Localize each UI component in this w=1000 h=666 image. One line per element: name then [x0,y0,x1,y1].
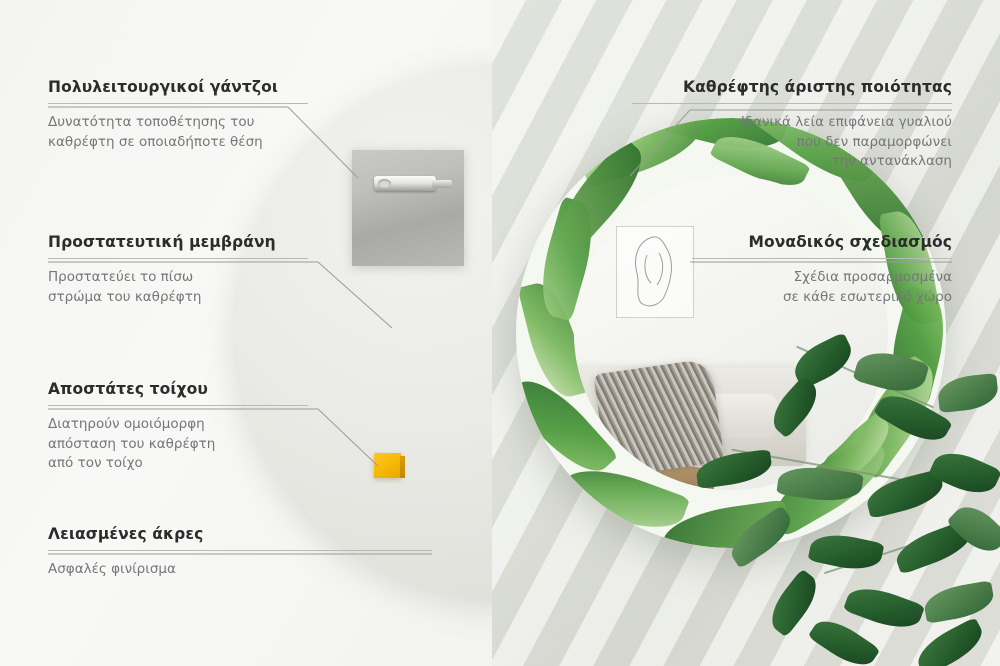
callout-desc: Προστατεύει το πίσωστρώμα του καθρέφτη [48,268,308,307]
callout-desc: Σχέδια προσαρμοσμένασε κάθε εσωτερικό χώ… [692,268,952,307]
line-art-face-icon [623,233,685,309]
callout-rule [692,258,952,259]
callout-desc: Διατηρούν ομοιόμορφηαπόσταση του καθρέφτ… [48,415,308,474]
callout-title: Καθρέφτης άριστης ποιότητας [632,78,952,96]
metal-hanging-hook [374,176,436,191]
callout-title: Μοναδικός σχεδιασμός [692,233,952,251]
callout-spacers: Αποστάτες τοίχου Διατηρούν ομοιόμορφηαπό… [48,380,308,474]
callout-rule [48,103,308,104]
callout-title: Προστατευτική μεμβράνη [48,233,308,251]
callout-edges: Λειασμένες άκρες Ασφαλές φινίρισμα [48,525,432,580]
reflected-line-art-frame [616,226,694,318]
tropical-leaf-round-mirror [516,118,946,548]
callout-rule [48,550,432,551]
callout-rule [48,405,308,406]
callout-hooks: Πολυλειτουργικοί γάντζοι Δυνατότητα τοπο… [48,78,308,152]
hook-hole [378,179,391,188]
callout-membrane: Προστατευτική μεμβράνη Προστατεύει το πί… [48,233,308,307]
callout-design: Μοναδικός σχεδιασμός Σχέδια προσαρμοσμέν… [692,233,952,307]
callout-rule [632,103,952,104]
metal-hanging-hook-panel [352,150,464,266]
infographic-stage: Πολυλειτουργικοί γάντζοι Δυνατότητα τοπο… [0,0,1000,666]
callout-title: Πολυλειτουργικοί γάντζοι [48,78,308,96]
callout-quality: Καθρέφτης άριστης ποιότητας Ιδανικά λεία… [632,78,952,172]
callout-title: Λειασμένες άκρες [48,525,432,543]
callout-rule [48,258,308,259]
callout-desc: Ιδανικά λεία επιφάνεια γυαλιούπου δεν πα… [632,113,952,172]
callout-title: Αποστάτες τοίχου [48,380,308,398]
callout-desc: Ασφαλές φινίρισμα [48,560,432,580]
mirror-glass-reflection [574,176,888,490]
yellow-wall-spacer [374,453,401,478]
callout-desc: Δυνατότητα τοποθέτησης τουκαθρέφτη σε οπ… [48,113,308,152]
reflected-knit-throw [593,358,724,477]
